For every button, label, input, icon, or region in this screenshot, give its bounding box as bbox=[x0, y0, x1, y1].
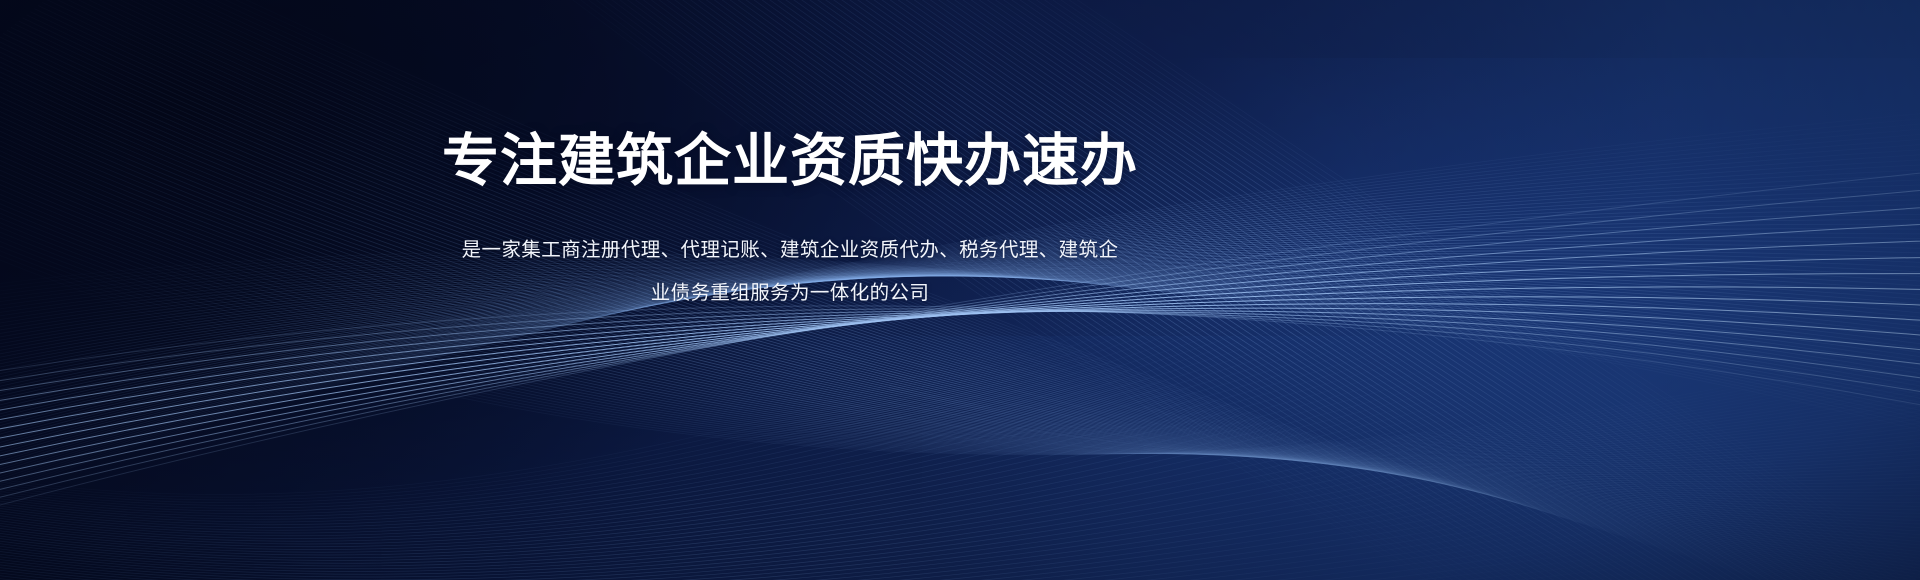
hero-text-block: 专注建筑企业资质快办速办 是一家集工商注册代理、代理记账、建筑企业资质代办、税务… bbox=[0, 128, 1580, 315]
hero-content: 专注建筑企业资质快办速办 是一家集工商注册代理、代理记账、建筑企业资质代办、税务… bbox=[0, 0, 1920, 580]
hero-title: 专注建筑企业资质快办速办 bbox=[0, 128, 1580, 195]
hero-banner: 专注建筑企业资质快办速办 是一家集工商注册代理、代理记账、建筑企业资质代办、税务… bbox=[0, 0, 1920, 580]
hero-subtitle-line-2: 业债务重组服务为一体化的公司 bbox=[425, 272, 1155, 315]
hero-subtitle-line-1: 是一家集工商注册代理、代理记账、建筑企业资质代办、税务代理、建筑企 bbox=[425, 229, 1155, 272]
hero-subtitle: 是一家集工商注册代理、代理记账、建筑企业资质代办、税务代理、建筑企 业债务重组服… bbox=[425, 229, 1155, 315]
